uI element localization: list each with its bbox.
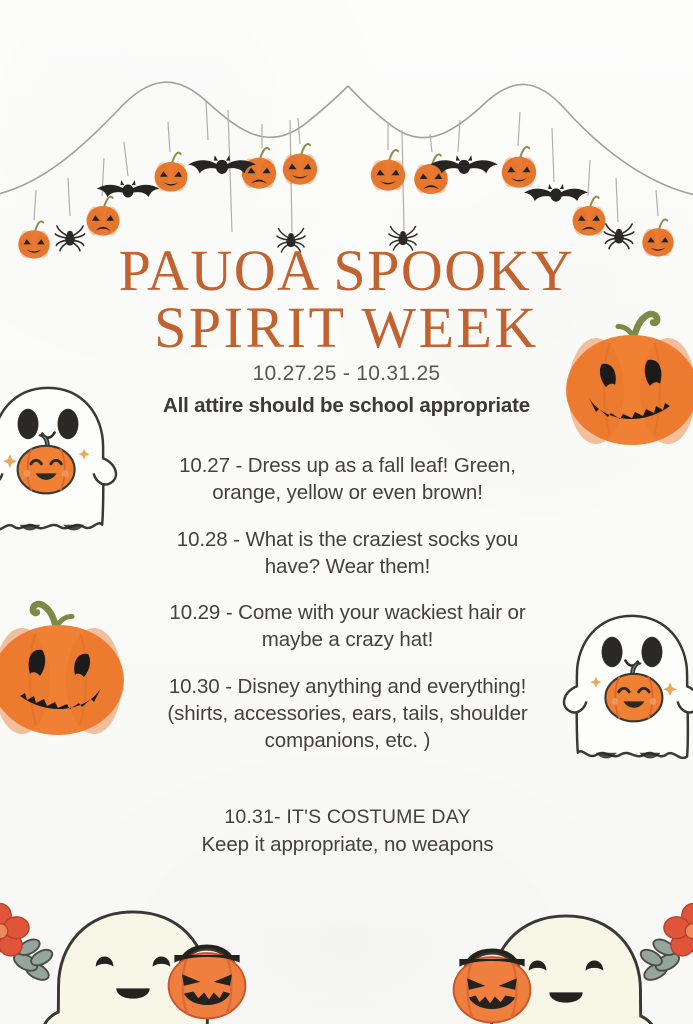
- schedule-item-1029: 10.29 - Come with your wackiest hair or …: [110, 599, 585, 654]
- spirit-week-flyer: PAUOA SPOOKY SPIRIT WEEK 10.27.25 - 10.3…: [0, 0, 693, 1024]
- costume-day-line: 10.31- IT'S COSTUME DAY: [110, 806, 585, 829]
- schedule-item-1028-line-1: 10.28 - What is the craziest socks you: [110, 526, 585, 553]
- schedule-item-1027-line-1: 10.27 - Dress up as a fall leaf! Green,: [110, 452, 585, 479]
- title-line-1: PAUOA SPOOKY: [0, 243, 693, 300]
- schedule-item-1028-line-2: have? Wear them!: [110, 553, 585, 580]
- flyer-text-layer: PAUOA SPOOKY SPIRIT WEEK 10.27.25 - 10.3…: [0, 0, 693, 1024]
- schedule-item-1029-line-1: 10.29 - Come with your wackiest hair or: [110, 599, 585, 626]
- title-line-2: SPIRIT WEEK: [0, 300, 693, 357]
- schedule-item-1030: 10.30 - Disney anything and everything! …: [110, 673, 585, 755]
- date-range: 10.27.25 - 10.31.25: [0, 362, 693, 386]
- costume-day-rule: Keep it appropriate, no weapons: [110, 833, 585, 857]
- schedule-item-1028: 10.28 - What is the craziest socks you h…: [110, 526, 585, 581]
- flyer-title: PAUOA SPOOKY SPIRIT WEEK: [0, 243, 693, 357]
- schedule-item-1030-line-2: (shirts, accessories, ears, tails, shoul…: [110, 700, 585, 727]
- attire-note: All attire should be school appropriate: [0, 394, 693, 418]
- schedule-list: 10.27 - Dress up as a fall leaf! Green, …: [110, 452, 585, 754]
- schedule-item-1030-line-1: 10.30 - Disney anything and everything!: [110, 673, 585, 700]
- closing-block: 10.31- IT'S COSTUME DAY Keep it appropri…: [110, 806, 585, 857]
- schedule-item-1029-line-2: maybe a crazy hat!: [110, 626, 585, 653]
- schedule-item-1027: 10.27 - Dress up as a fall leaf! Green, …: [110, 452, 585, 507]
- schedule-item-1030-line-3: companions, etc. ): [110, 727, 585, 754]
- schedule-item-1027-line-2: orange, yellow or even brown!: [110, 479, 585, 506]
